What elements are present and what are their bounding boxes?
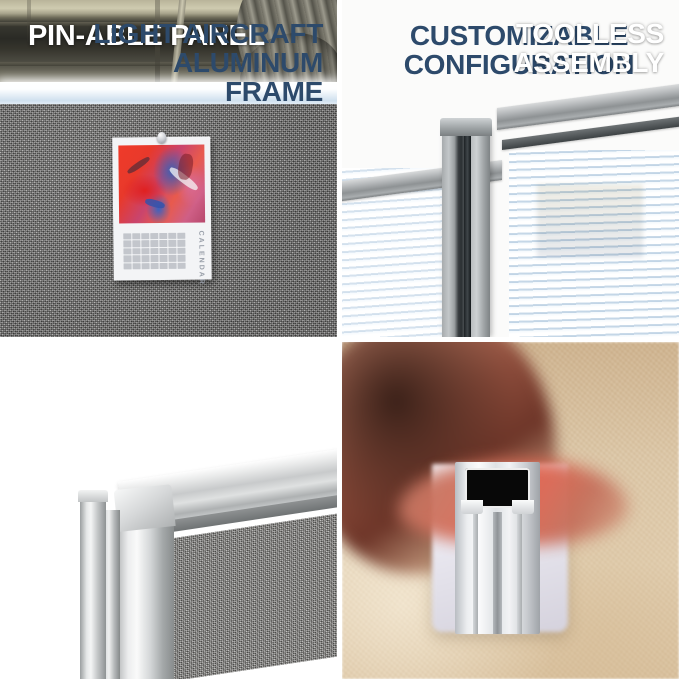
- caption-light-aircraft-aluminum-frame: LIGHT AIRCRAFT ALUMINUM FRAME: [14, 20, 323, 106]
- panel-light-aircraft-aluminum-frame: [0, 342, 337, 679]
- post-channel-groove: [464, 130, 471, 337]
- extrusion-lip-right: [512, 500, 534, 514]
- pinned-calendar: CALENDAR: [112, 136, 211, 280]
- extrusion-lip-left: [461, 500, 483, 514]
- push-pin-icon: [157, 132, 166, 143]
- post-top-cap: [440, 118, 492, 136]
- extrusion-web-left: [473, 514, 478, 634]
- aluminum-front-post: [118, 518, 174, 679]
- aluminum-u-channel-extrusion: [455, 462, 540, 634]
- rear-post-cap: [78, 490, 108, 502]
- calendar-artwork: [118, 145, 205, 224]
- aluminum-rear-post: [80, 497, 106, 679]
- panel-toolless-assembly: [342, 342, 679, 679]
- extrusion-center-slot: [493, 512, 502, 634]
- calendar-month-label: CALENDAR: [197, 231, 205, 286]
- caption-toolless-assembly: TOOLLESS ASSEMBLY: [355, 20, 664, 78]
- gray-fabric-infill: [174, 513, 337, 679]
- extrusion-web-right: [517, 514, 522, 634]
- paint-stroke: [144, 197, 165, 209]
- window-blinds-right: [509, 150, 679, 337]
- paint-stroke: [126, 156, 151, 176]
- aluminum-corner-block: [114, 484, 176, 532]
- calendar-date-grid: [123, 233, 185, 270]
- product-feature-grid: CALENDAR: [0, 0, 679, 679]
- paint-stroke: [177, 153, 195, 181]
